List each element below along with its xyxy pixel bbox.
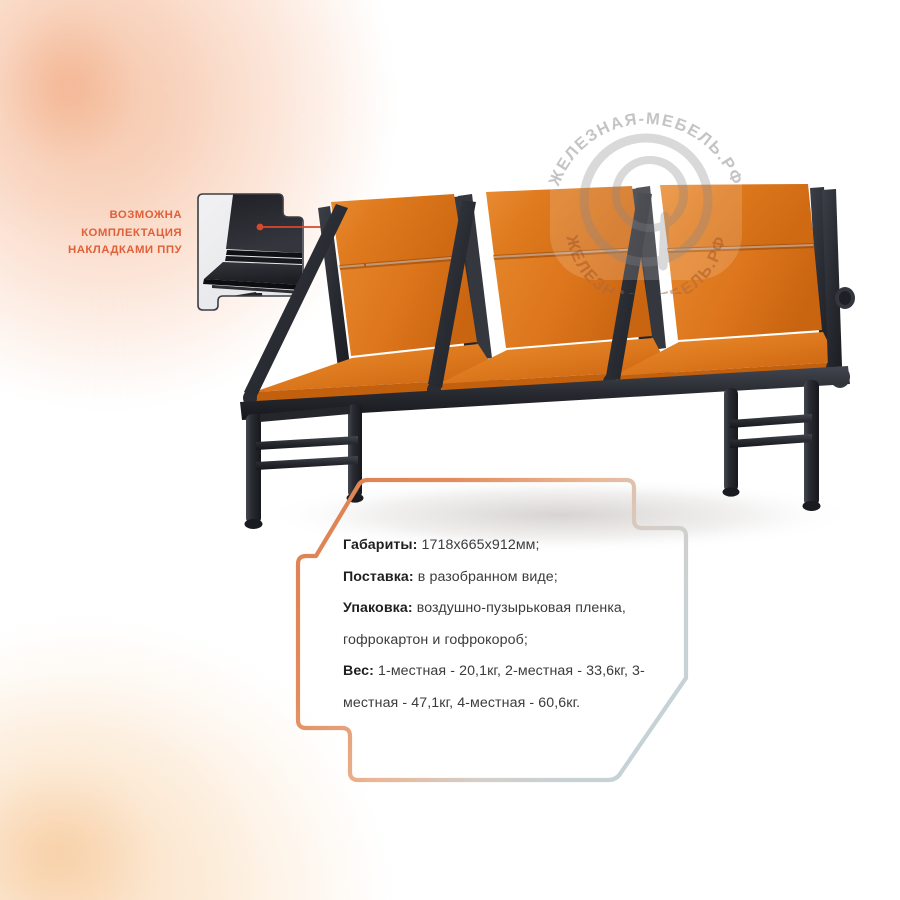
spec-value-delivery: в разобранном виде; xyxy=(414,569,558,585)
spec-value-weight: 1-местная - 20,1кг, 2-местная - 33,6кг, … xyxy=(343,663,645,711)
spec-row-dimensions: Габариты: 1718x665x912мм; xyxy=(343,530,683,562)
ppu-note-line-3: НАКЛАДКАМИ ППУ xyxy=(18,242,182,260)
spec-label-packaging: Упаковка: xyxy=(343,600,413,616)
watermark: ЖЕЛЕЗНАЯ-МЕБЕЛЬ.РФ ЖЕЛЕЗНАЯ-МЕБЕЛЬ.РФ xyxy=(532,108,760,294)
spec-label-dimensions: Габариты: xyxy=(343,537,417,553)
spec-row-delivery: Поставка: в разобранном виде; xyxy=(343,562,683,594)
ppu-note-line-1: ВОЗМОЖНА xyxy=(18,207,182,225)
spec-label-weight: Вес: xyxy=(343,663,374,679)
product-image-canvas: ВОЗМОЖНА КОМПЛЕКТАЦИЯ НАКЛАДКАМИ ППУ xyxy=(0,0,900,900)
spec-label-delivery: Поставка: xyxy=(343,569,414,585)
spec-row-weight: Вес: 1-местная - 20,1кг, 2-местная - 33,… xyxy=(343,656,683,719)
specifications-list: Габариты: 1718x665x912мм; Поставка: в ра… xyxy=(343,530,683,719)
spec-row-packaging: Упаковка: воздушно-пузырьковая пленка, г… xyxy=(343,593,683,656)
ppu-pads-note: ВОЗМОЖНА КОМПЛЕКТАЦИЯ НАКЛАДКАМИ ППУ xyxy=(18,207,182,260)
background-glow-bottom-left-inner xyxy=(0,690,290,900)
ppu-note-line-2: КОМПЛЕКТАЦИЯ xyxy=(18,225,182,243)
spec-value-dimensions: 1718x665x912мм; xyxy=(417,537,539,553)
